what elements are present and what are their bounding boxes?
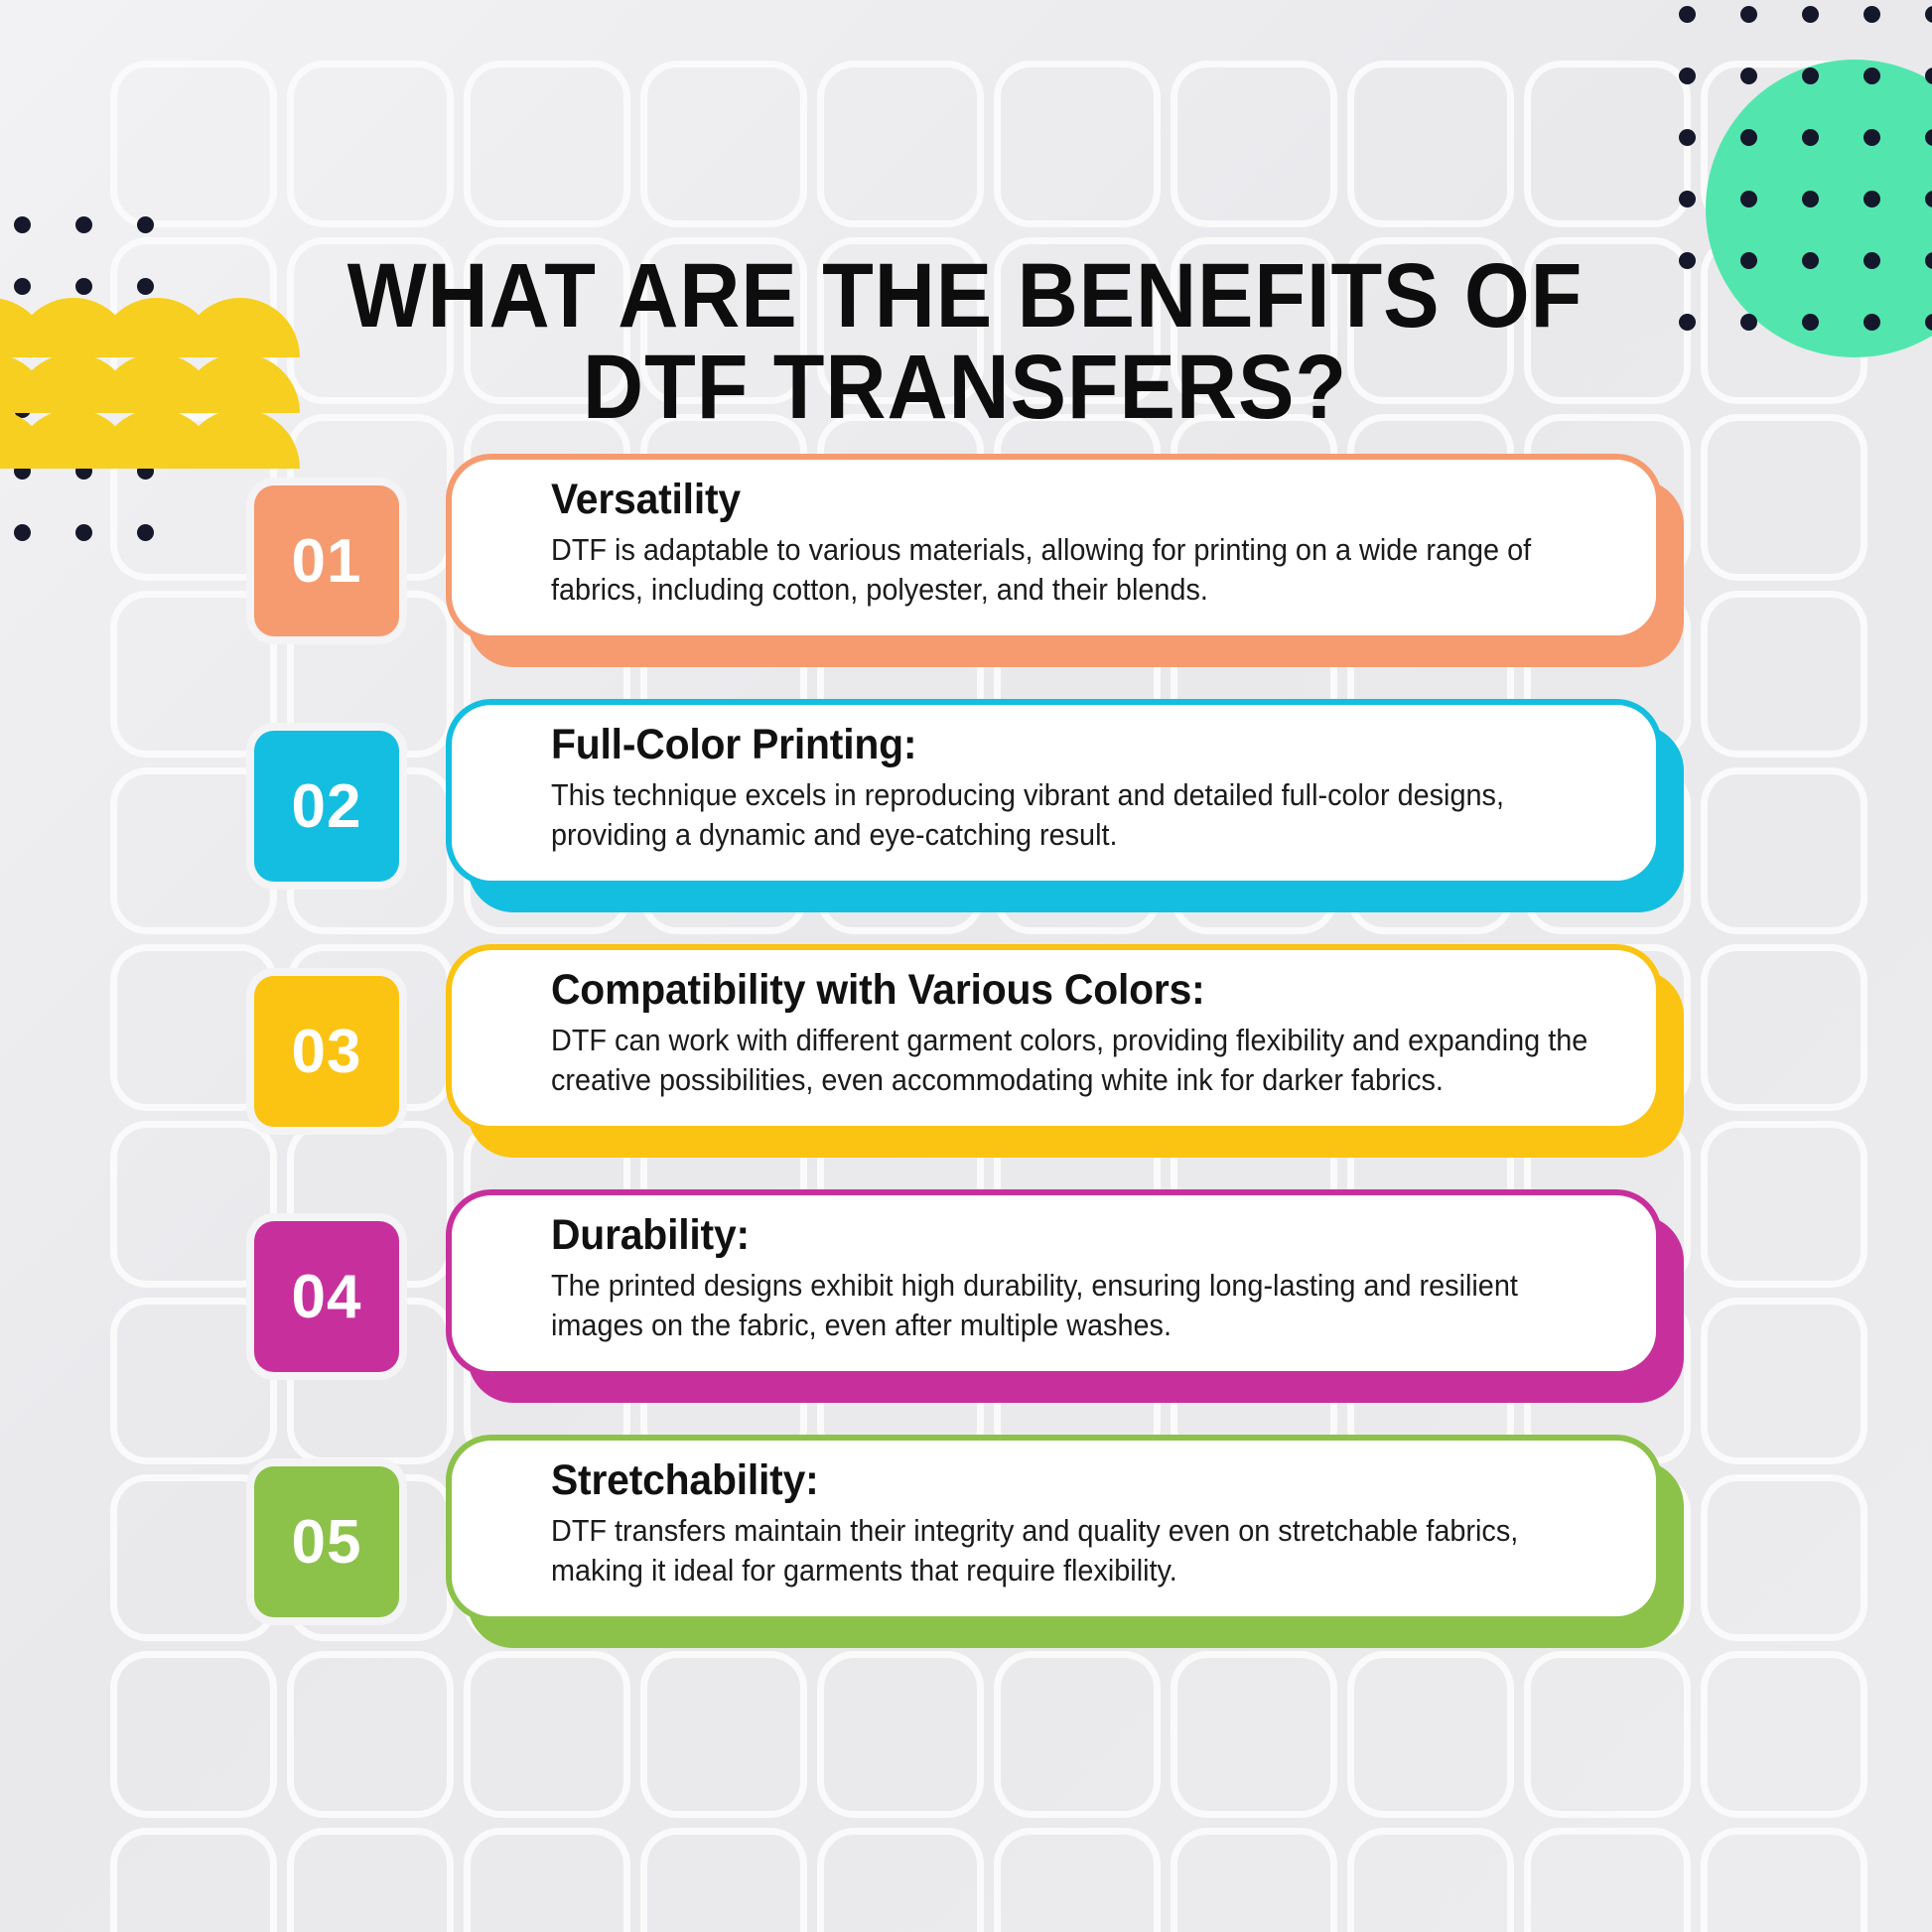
benefit-number-badge[interactable]: 03 (254, 976, 399, 1127)
benefit-number-label: 04 (292, 1262, 362, 1332)
benefit-card-body: DTF transfers maintain their integrity a… (551, 1511, 1605, 1589)
benefit-card-wrapper: Compatibility with Various Colors:DTF ca… (446, 944, 1684, 1158)
benefit-card[interactable]: Full-Color Printing:This technique excel… (446, 699, 1662, 887)
benefit-card-title: Full-Color Printing: (551, 721, 1558, 769)
benefit-card-title: Stretchability: (551, 1456, 1558, 1505)
benefit-card[interactable]: Stretchability:DTF transfers maintain th… (446, 1435, 1662, 1622)
benefit-number-label: 03 (292, 1017, 362, 1087)
benefit-card-title: Versatility (551, 476, 1558, 524)
benefit-card-wrapper: Full-Color Printing:This technique excel… (446, 699, 1684, 912)
benefit-card-wrapper: Stretchability:DTF transfers maintain th… (446, 1435, 1684, 1648)
benefit-number-label: 01 (292, 526, 362, 597)
infographic-canvas: WHAT ARE THE BENEFITS OF DTF TRANSFERS? … (0, 0, 1932, 1932)
benefit-card-body: DTF can work with different garment colo… (551, 1021, 1605, 1099)
benefit-card-body: This technique excels in reproducing vib… (551, 775, 1605, 854)
benefit-number-badge[interactable]: 02 (254, 731, 399, 882)
benefit-card-wrapper: Durability:The printed designs exhibit h… (446, 1189, 1684, 1403)
benefit-number-label: 02 (292, 771, 362, 842)
benefit-row: 03Compatibility with Various Colors:DTF … (254, 944, 1684, 1158)
benefit-card-wrapper: VersatilityDTF is adaptable to various m… (446, 454, 1684, 667)
benefit-card[interactable]: Durability:The printed designs exhibit h… (446, 1189, 1662, 1377)
benefit-number-badge[interactable]: 01 (254, 485, 399, 636)
benefit-card-body: DTF is adaptable to various materials, a… (551, 530, 1605, 609)
benefit-card[interactable]: Compatibility with Various Colors:DTF ca… (446, 944, 1662, 1132)
benefit-card[interactable]: VersatilityDTF is adaptable to various m… (446, 454, 1662, 641)
benefit-number-label: 05 (292, 1507, 362, 1578)
benefit-card-body: The printed designs exhibit high durabil… (551, 1266, 1605, 1344)
benefit-row: 01VersatilityDTF is adaptable to various… (254, 454, 1684, 667)
benefit-row: 05Stretchability:DTF transfers maintain … (254, 1435, 1684, 1648)
benefit-number-badge[interactable]: 04 (254, 1221, 399, 1372)
benefit-row: 02Full-Color Printing:This technique exc… (254, 699, 1684, 912)
benefit-card-title: Compatibility with Various Colors: (551, 966, 1558, 1015)
benefit-row: 04Durability:The printed designs exhibit… (254, 1189, 1684, 1403)
benefit-number-badge[interactable]: 05 (254, 1466, 399, 1617)
benefits-list: 01VersatilityDTF is adaptable to various… (0, 0, 1932, 1932)
benefit-card-title: Durability: (551, 1211, 1558, 1260)
